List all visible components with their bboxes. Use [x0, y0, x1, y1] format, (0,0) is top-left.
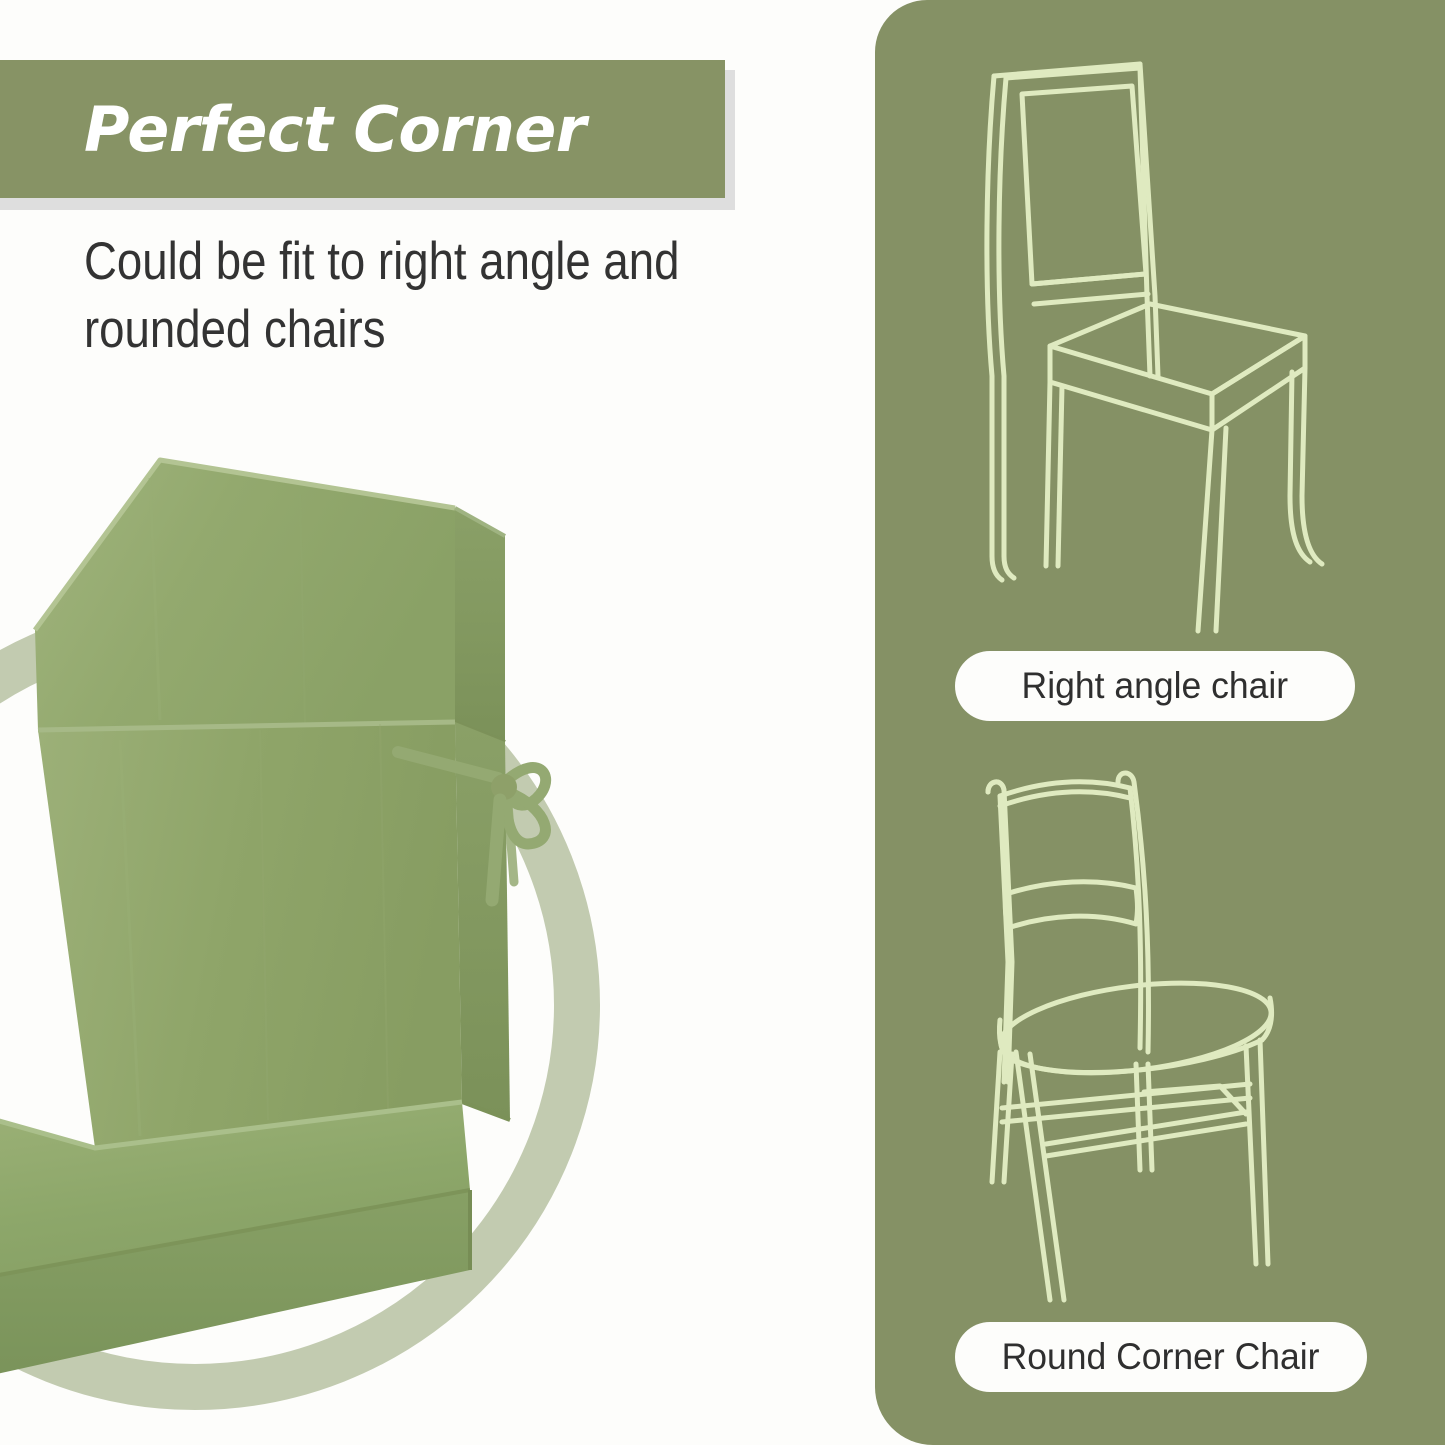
- chair-types-panel: Right angle chair: [875, 0, 1445, 1445]
- seat-cushion: [0, 1102, 470, 1382]
- back-cushion: [38, 722, 510, 1148]
- chair-cushion-product-image: [0, 430, 640, 1390]
- page-subtitle: Could be fit to right angle and rounded …: [84, 228, 738, 364]
- pill-right-angle-chair-label: Right angle chair: [1022, 665, 1289, 707]
- title-banner: Perfect Corner: [0, 60, 725, 198]
- pill-round-corner-chair[interactable]: Round Corner Chair: [955, 1322, 1367, 1392]
- left-content-column: Perfect Corner Could be fit to right ang…: [0, 0, 875, 1445]
- pill-right-angle-chair[interactable]: Right angle chair: [955, 651, 1355, 721]
- right-angle-chair-icon: [875, 46, 1445, 636]
- headrest-cushion: [35, 460, 505, 742]
- pill-round-corner-chair-label: Round Corner Chair: [1002, 1336, 1320, 1378]
- marketing-image-stage: Perfect Corner Could be fit to right ang…: [0, 0, 1445, 1445]
- page-title: Perfect Corner: [84, 93, 586, 166]
- round-corner-chair-icon: [875, 752, 1445, 1308]
